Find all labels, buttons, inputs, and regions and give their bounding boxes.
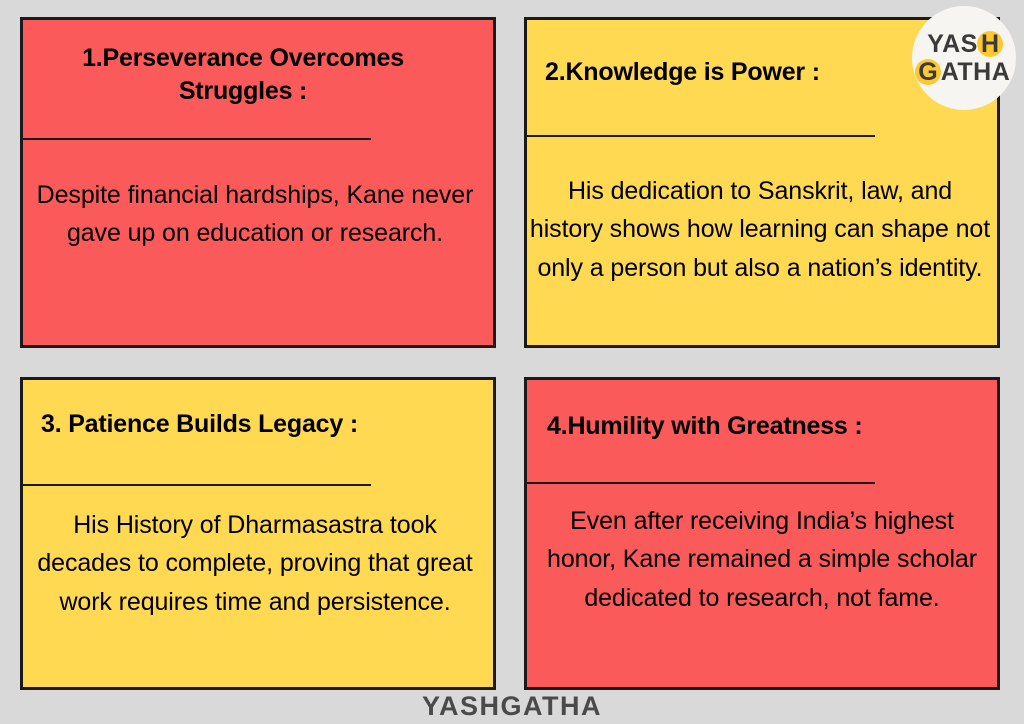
lesson-card-3-title: 3. Patience Builds Legacy : [23,380,493,441]
logo-line-gatha: GATHA [916,60,1011,85]
lesson-card-4: 4.Humility with Greatness : Even after r… [524,377,1000,690]
logo-text-yas: YAS [927,32,978,57]
lesson-card-3-body: His History of Dharmasastra took decades… [23,506,493,621]
logo-text-atha: ATHA [941,60,1011,85]
lesson-card-2-body: His dedication to Sanskrit, law, and his… [527,172,997,287]
lessons-card-grid: 1.Perseverance Overcomes Struggles : Des… [20,17,1000,690]
logo-highlight-g-icon: G [916,60,941,85]
lesson-card-3-divider [23,484,371,486]
footer-brand: YASHGATHA [0,691,1024,722]
lesson-card-3: 3. Patience Builds Legacy : His History … [20,377,496,690]
lesson-card-1-divider [23,138,371,140]
lesson-card-4-body: Even after receiving India’s highest hon… [527,502,997,617]
lesson-card-1-title: 1.Perseverance Overcomes Struggles : [23,20,493,108]
lesson-card-1: 1.Perseverance Overcomes Struggles : Des… [20,17,496,348]
infographic-canvas: 1.Perseverance Overcomes Struggles : Des… [0,0,1024,724]
lesson-card-1-body: Despite financial hardships, Kane never … [23,176,493,253]
lesson-card-4-title: 4.Humility with Greatness : [527,380,997,443]
logo-highlight-h-icon: H [978,32,1003,57]
lesson-card-2-divider [527,135,875,137]
logo-text-h: H [981,32,1000,57]
yashgatha-logo-badge: YASH GATHA [912,6,1016,110]
lesson-card-4-divider [527,482,875,484]
logo-line-yash: YASH [927,32,1003,57]
logo-text-g: G [918,60,938,85]
